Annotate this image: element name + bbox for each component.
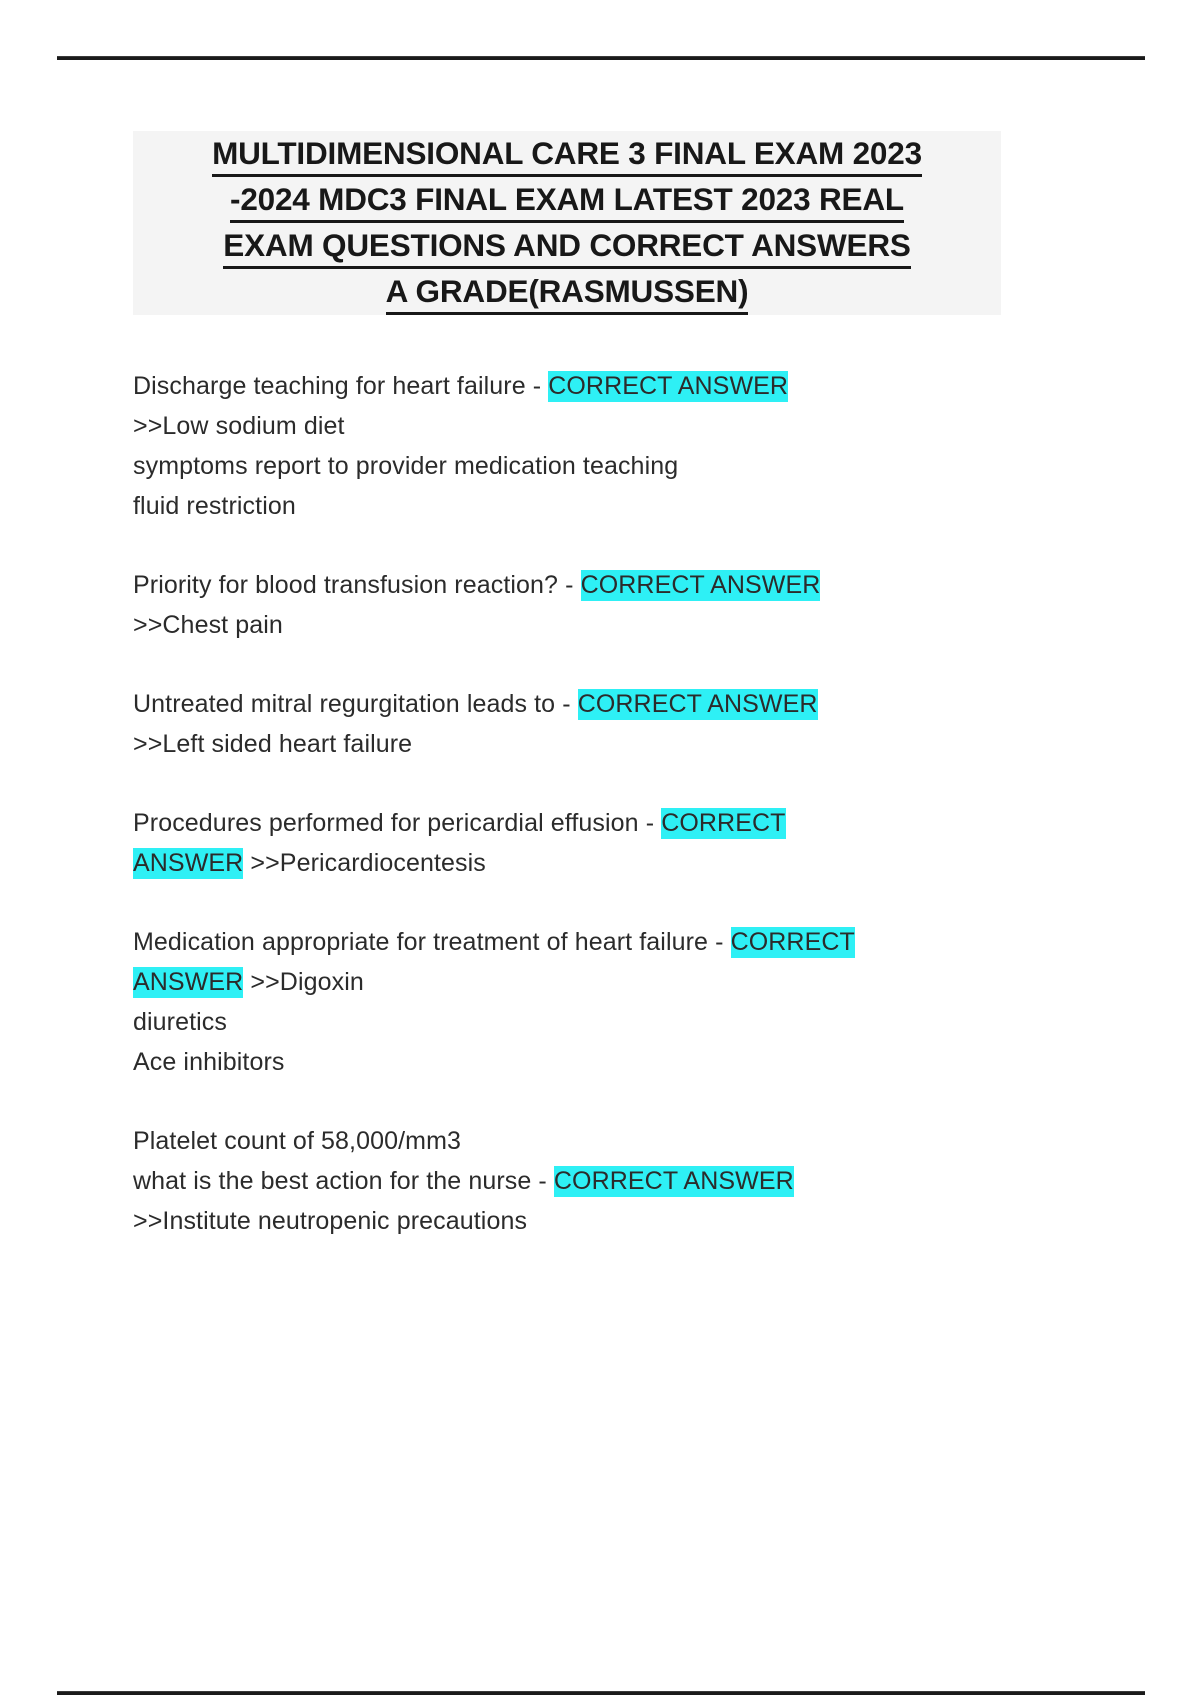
answer-prefix: >> — [133, 730, 162, 758]
qa-extra-line: fluid restriction — [133, 486, 1033, 526]
correct-answer-marker-part1: CORRECT — [731, 927, 855, 958]
question-text: Procedures performed for pericardial eff… — [133, 809, 661, 837]
page-title-line-3: EXAM QUESTIONS AND CORRECT ANSWERS — [133, 223, 1001, 269]
qa-extra-line: symptoms report to provider medication t… — [133, 446, 1033, 486]
correct-answer-marker: CORRECT ANSWER — [581, 570, 821, 601]
qa-question-line: Priority for blood transfusion reaction?… — [133, 565, 1033, 605]
correct-answer-marker: CORRECT ANSWER — [578, 689, 818, 720]
page-title-line-1-text: MULTIDIMENSIONAL CARE 3 FINAL EXAM 2023 — [212, 133, 922, 177]
page-bottom-rule — [57, 1691, 1145, 1695]
qa-question-line: Procedures performed for pericardial eff… — [133, 803, 1033, 883]
qa-answer-line: >>Chest pain — [133, 605, 1033, 645]
qa-answer-line: >>Institute neutropenic precautions — [133, 1201, 1033, 1241]
qa-block: Untreated mitral regurgitation leads to … — [133, 684, 1033, 764]
answer-prefix: >> — [243, 968, 279, 996]
qa-block: Procedures performed for pericardial eff… — [133, 803, 1033, 883]
page-title-line-2: -2024 MDC3 FINAL EXAM LATEST 2023 REAL — [133, 177, 1001, 223]
answer-prefix: >> — [243, 849, 279, 877]
qa-question-line-first: Platelet count of 58,000/mm3 — [133, 1121, 1033, 1161]
qa-question-line: what is the best action for the nurse - … — [133, 1161, 1033, 1201]
page-title-line-1: MULTIDIMENSIONAL CARE 3 FINAL EXAM 2023 — [133, 131, 1001, 177]
question-text: Medication appropriate for treatment of … — [133, 928, 731, 956]
page-title: MULTIDIMENSIONAL CARE 3 FINAL EXAM 2023 … — [133, 131, 1001, 315]
question-text: what is the best action for the nurse - — [133, 1167, 554, 1195]
qa-extra-line: Ace inhibitors — [133, 1042, 1033, 1082]
answer-text: Low sodium diet — [162, 412, 344, 440]
correct-answer-marker-part2: ANSWER — [133, 967, 243, 998]
answer-text: Chest pain — [162, 611, 283, 639]
page-title-line-4-text: A GRADE(RASMUSSEN) — [386, 271, 749, 315]
page-title-line-3-text: EXAM QUESTIONS AND CORRECT ANSWERS — [223, 225, 910, 269]
qa-list: Discharge teaching for heart failure - C… — [133, 366, 1033, 1241]
correct-answer-marker-part1: CORRECT — [661, 808, 785, 839]
correct-answer-marker: CORRECT ANSWER — [554, 1166, 794, 1197]
document-page: MULTIDIMENSIONAL CARE 3 FINAL EXAM 2023 … — [0, 0, 1200, 1700]
page-title-line-2-text: -2024 MDC3 FINAL EXAM LATEST 2023 REAL — [230, 179, 904, 223]
page-title-line-4: A GRADE(RASMUSSEN) — [133, 269, 1001, 315]
qa-block: Medication appropriate for treatment of … — [133, 922, 1033, 1082]
answer-prefix: >> — [133, 412, 162, 440]
question-text: Priority for blood transfusion reaction?… — [133, 571, 581, 599]
page-top-rule — [57, 56, 1145, 60]
answer-prefix: >> — [133, 1207, 162, 1235]
question-text: Discharge teaching for heart failure - — [133, 372, 548, 400]
correct-answer-marker-part2: ANSWER — [133, 848, 243, 879]
answer-text: Left sided heart failure — [162, 730, 412, 758]
answer-text: Pericardiocentesis — [280, 849, 486, 877]
correct-answer-marker: CORRECT ANSWER — [548, 371, 788, 402]
qa-block: Platelet count of 58,000/mm3 what is the… — [133, 1121, 1033, 1241]
answer-text: Institute neutropenic precautions — [162, 1207, 527, 1235]
qa-question-line: Medication appropriate for treatment of … — [133, 922, 1033, 1002]
qa-block: Discharge teaching for heart failure - C… — [133, 366, 1033, 526]
answer-prefix: >> — [133, 611, 162, 639]
qa-answer-line: >>Low sodium diet — [133, 406, 1033, 446]
qa-extra-line: diuretics — [133, 1002, 1033, 1042]
answer-text: Digoxin — [280, 968, 364, 996]
qa-block: Priority for blood transfusion reaction?… — [133, 565, 1033, 645]
qa-question-line: Discharge teaching for heart failure - C… — [133, 366, 1033, 406]
qa-answer-line: >>Left sided heart failure — [133, 724, 1033, 764]
qa-question-line: Untreated mitral regurgitation leads to … — [133, 684, 1033, 724]
question-text: Untreated mitral regurgitation leads to … — [133, 690, 578, 718]
